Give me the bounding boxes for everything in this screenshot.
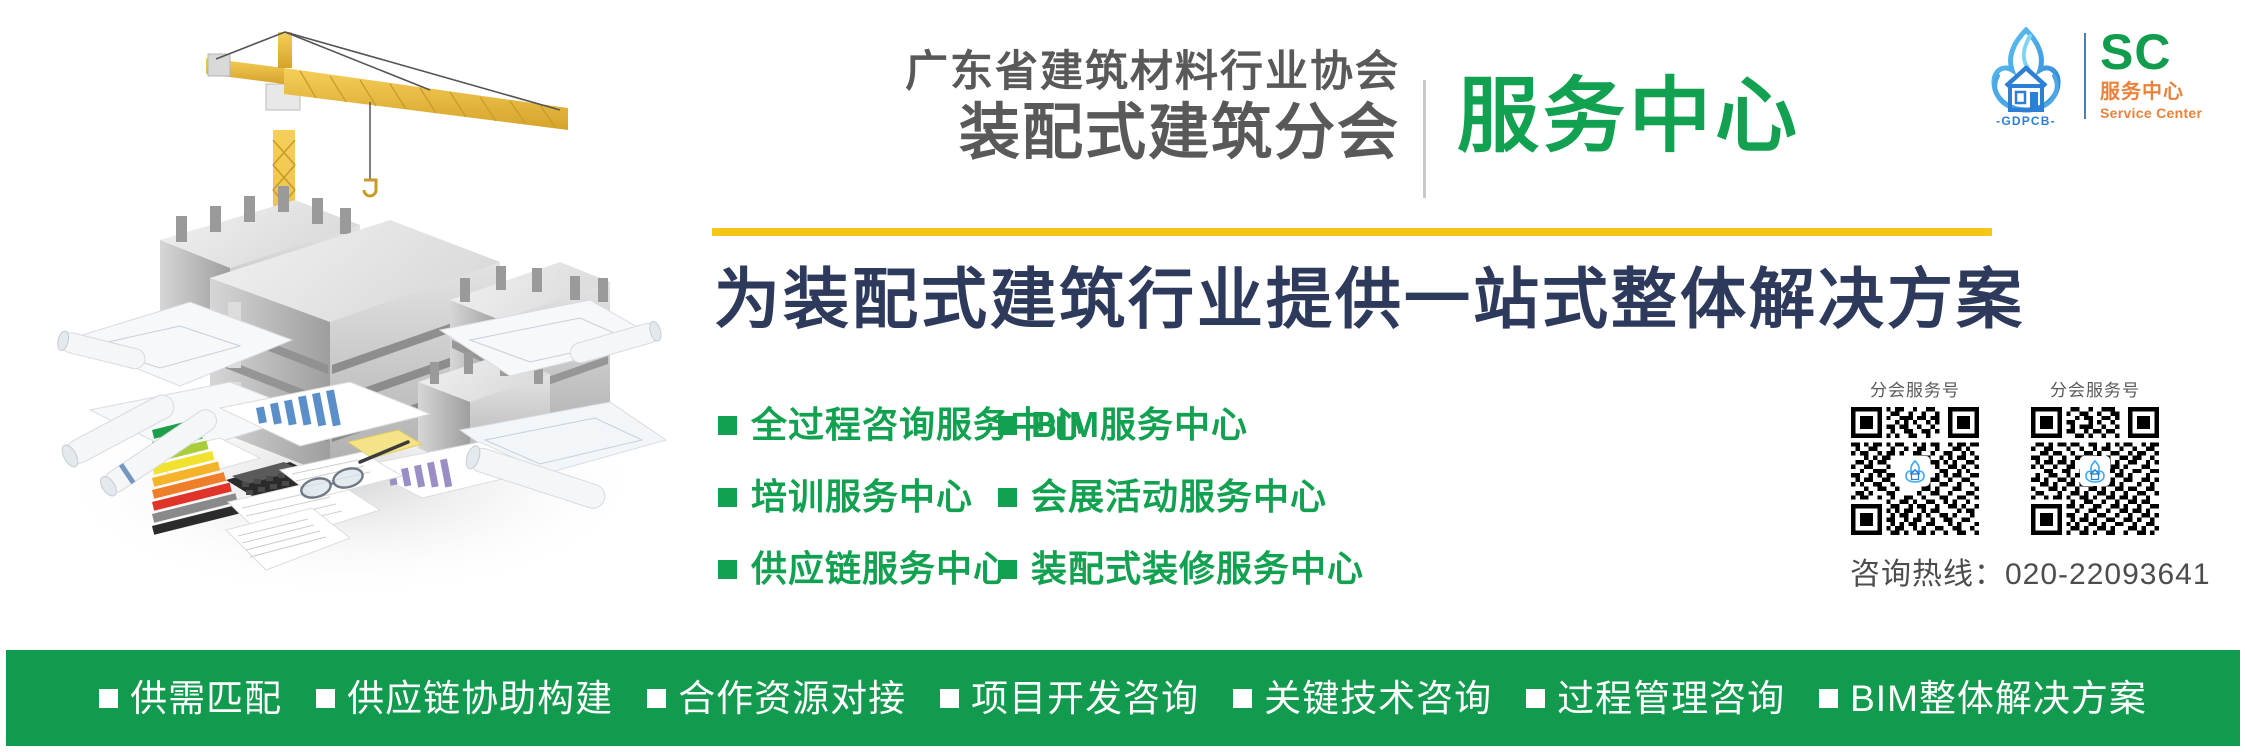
square-bullet-icon [718, 416, 737, 435]
bottom-item-label: 供需匹配 [130, 680, 282, 717]
service-label: 培训服务中心 [751, 479, 973, 515]
gdpcb-logo-icon: -GDPCB- [1978, 24, 2074, 128]
bottom-item[interactable]: BIM整体解决方案 [1819, 680, 2147, 717]
square-bullet-icon [1526, 689, 1545, 708]
square-bullet-icon [647, 689, 666, 708]
bottom-item-label: 过程管理咨询 [1557, 680, 1785, 717]
logo-service-center-cn: 服务中心 [2100, 80, 2184, 105]
service-label: 会展活动服务中心 [1031, 479, 1327, 515]
square-bullet-icon [1233, 689, 1252, 708]
bottom-item-label: 供应链协助构建 [347, 680, 613, 717]
service-item[interactable]: 装配式装修服务中心 [998, 549, 1778, 589]
service-item[interactable]: 会展活动服务中心 [998, 477, 1778, 517]
service-item[interactable]: 供应链服务中心 [718, 549, 1018, 589]
square-bullet-icon [1819, 689, 1838, 708]
square-bullet-icon [718, 560, 737, 579]
header-title-block: 广东省建筑材料行业协会 装配式建筑分会 服务中心 [845, 48, 2005, 208]
logo-vertical-divider [2084, 33, 2086, 119]
service-column-right: BIM服务中心 会展活动服务中心 装配式装修服务中心 [998, 405, 1778, 589]
service-label: 供应链服务中心 [751, 551, 1010, 587]
square-bullet-icon [99, 689, 118, 708]
gdpcb-caption: -GDPCB- [1996, 114, 2056, 128]
square-bullet-icon [998, 488, 1017, 507]
gold-divider-rule [712, 228, 1992, 236]
service-center-heading: 服务中心 [1457, 70, 1801, 164]
qr-center-logo-icon [2080, 456, 2110, 486]
service-item[interactable]: 培训服务中心 [718, 477, 1018, 517]
bottom-item[interactable]: 过程管理咨询 [1526, 680, 1785, 717]
service-column-left: 全过程咨询服务中心 培训服务中心 供应链服务中心 [718, 405, 1018, 589]
square-bullet-icon [998, 416, 1017, 435]
association-line-2: 装配式建筑分会 [845, 99, 1400, 166]
banner-root: 广东省建筑材料行业协会 装配式建筑分会 服务中心 为装配式建筑行业提供一站式整体… [0, 0, 2246, 752]
bottom-item[interactable]: 关键技术咨询 [1233, 680, 1492, 717]
logo-service-center-en: Service Center [2100, 105, 2202, 122]
qr-code-row: 分会服务号 [1840, 382, 2230, 535]
qr-code-image-1[interactable] [1851, 407, 1979, 535]
qr-code-block: 分会服务号 [1840, 382, 2230, 593]
bottom-items-row: 供需匹配 供应链协助构建 合作资源对接 项目开发咨询 关键技术咨询 过程管理咨询 [99, 680, 2147, 717]
square-bullet-icon [998, 560, 1017, 579]
association-name: 广东省建筑材料行业协会 装配式建筑分会 [845, 48, 1400, 166]
bottom-item-label: 关键技术咨询 [1264, 680, 1492, 717]
brand-logo-block: -GDPCB- SC 服务中心 Service Center [1978, 18, 2228, 133]
service-label: 装配式装修服务中心 [1031, 551, 1364, 587]
qr-caption: 分会服务号 [1870, 382, 1960, 399]
bottom-service-bar: 供需匹配 供应链协助构建 合作资源对接 项目开发咨询 关键技术咨询 过程管理咨询 [6, 650, 2240, 746]
bottom-item-label: 合作资源对接 [678, 680, 906, 717]
square-bullet-icon [718, 488, 737, 507]
square-bullet-icon [940, 689, 959, 708]
hotline-text: 咨询热线：020-22093641 [1850, 549, 2230, 593]
bottom-item-label: BIM整体解决方案 [1850, 680, 2147, 717]
service-item[interactable]: BIM服务中心 [998, 405, 1778, 445]
main-tagline: 为装配式建筑行业提供一站式整体解决方案 [714, 258, 2025, 341]
hero-construction-image [30, 10, 670, 640]
square-bullet-icon [316, 689, 335, 708]
logo-text-block: SC 服务中心 Service Center [2100, 29, 2202, 121]
service-label: BIM服务中心 [1031, 407, 1248, 443]
header-vertical-divider [1423, 80, 1426, 198]
bottom-item[interactable]: 项目开发咨询 [940, 680, 1199, 717]
logo-sc-abbrev: SC [2100, 29, 2171, 77]
qr-code-cell[interactable]: 分会服务号 [1840, 382, 1990, 535]
service-centers-list: 全过程咨询服务中心 培训服务中心 供应链服务中心 BIM服务中心 会展活动服务中… [718, 405, 1778, 589]
bottom-item[interactable]: 合作资源对接 [647, 680, 906, 717]
bottom-item[interactable]: 供需匹配 [99, 680, 282, 717]
association-line-1: 广东省建筑材料行业协会 [845, 48, 1400, 96]
service-item[interactable]: 全过程咨询服务中心 [718, 405, 1018, 445]
qr-caption: 分会服务号 [2050, 382, 2140, 399]
bottom-item-label: 项目开发咨询 [971, 680, 1199, 717]
bottom-item[interactable]: 供应链协助构建 [316, 680, 613, 717]
qr-center-logo-icon [1900, 456, 1930, 486]
qr-code-cell[interactable]: 分会服务号 [2020, 382, 2170, 535]
qr-code-image-2[interactable] [2031, 407, 2159, 535]
